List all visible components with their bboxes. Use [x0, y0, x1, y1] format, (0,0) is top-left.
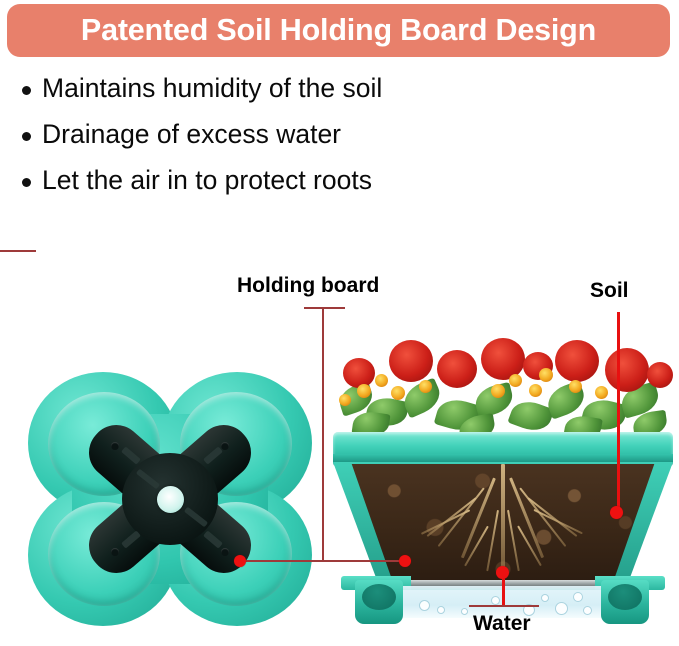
red-flower: [389, 340, 433, 382]
quatrefoil-tray-top-view: [20, 368, 320, 628]
leader-stem-soil: [617, 312, 620, 512]
holding-board-screw: [221, 548, 229, 556]
red-flower: [647, 362, 673, 388]
water-bubble: [583, 606, 592, 615]
yellow-flower: [595, 386, 608, 399]
red-flower: [555, 340, 599, 382]
page-title: Patented Soil Holding Board Design: [81, 15, 596, 46]
yellow-flower: [357, 384, 371, 398]
red-flower: [343, 358, 375, 388]
callout-label-soil: Soil: [590, 279, 629, 303]
holding-board-screw: [221, 442, 229, 450]
water-bubble: [555, 602, 568, 615]
feature-list: Maintains humidity of the soil Drainage …: [22, 72, 542, 210]
list-item: Drainage of excess water: [22, 118, 542, 164]
leader-run-holding-board: [240, 560, 410, 562]
marker-dot-holding-board-tray: [234, 555, 246, 567]
water-bubble: [541, 594, 549, 602]
yellow-flower: [569, 380, 582, 393]
water-bubble: [491, 596, 500, 605]
planter-foot-cup: [362, 584, 396, 610]
callout-label-holding-board: Holding board: [237, 274, 379, 298]
yellow-flower: [539, 368, 553, 382]
marker-dot-soil: [610, 506, 623, 519]
leader-cap-water: [469, 605, 539, 607]
yellow-flower: [419, 380, 432, 393]
leader-cap-soil: [0, 250, 36, 252]
header-banner: Patented Soil Holding Board Design: [7, 4, 670, 57]
bullet-dot-icon: [22, 132, 31, 141]
list-item: Let the air in to protect roots: [22, 164, 542, 210]
leader-stem-holding-board: [322, 307, 324, 562]
feature-text: Drainage of excess water: [42, 118, 341, 151]
yellow-flower: [339, 394, 351, 406]
root: [486, 510, 498, 571]
planter-foot-cup: [608, 584, 642, 610]
holding-board-screw: [111, 442, 119, 450]
water-bubble: [461, 608, 468, 615]
marker-dot-water: [496, 566, 509, 579]
root: [533, 509, 582, 534]
root: [507, 510, 519, 571]
yellow-flower: [491, 384, 505, 398]
bullet-dot-icon: [22, 178, 31, 187]
feature-text: Let the air in to protect roots: [42, 164, 372, 197]
center-drain-hole: [157, 486, 184, 513]
red-flower: [437, 350, 477, 388]
marker-dot-holding-board-section: [399, 555, 411, 567]
yellow-flower: [509, 374, 522, 387]
root: [421, 509, 470, 534]
water-bubble: [419, 600, 430, 611]
leader-cap-holding-board: [304, 307, 345, 309]
product-diagram: Holding board Soil Water: [0, 250, 679, 646]
feature-text: Maintains humidity of the soil: [42, 72, 382, 105]
holding-board-screw: [111, 548, 119, 556]
planter-foot-left: [355, 580, 403, 624]
bullet-dot-icon: [22, 86, 31, 95]
flower-foliage-group: [333, 328, 673, 440]
red-flower: [605, 348, 649, 392]
yellow-flower: [391, 386, 405, 400]
yellow-flower: [529, 384, 542, 397]
callout-label-water: Water: [473, 612, 531, 636]
planter-rim-lip: [333, 454, 673, 463]
planter-foot-right: [601, 580, 649, 624]
yellow-flower: [375, 374, 388, 387]
list-item: Maintains humidity of the soil: [22, 72, 542, 118]
water-bubble: [437, 606, 445, 614]
water-bubble: [573, 592, 583, 602]
root: [501, 464, 505, 576]
